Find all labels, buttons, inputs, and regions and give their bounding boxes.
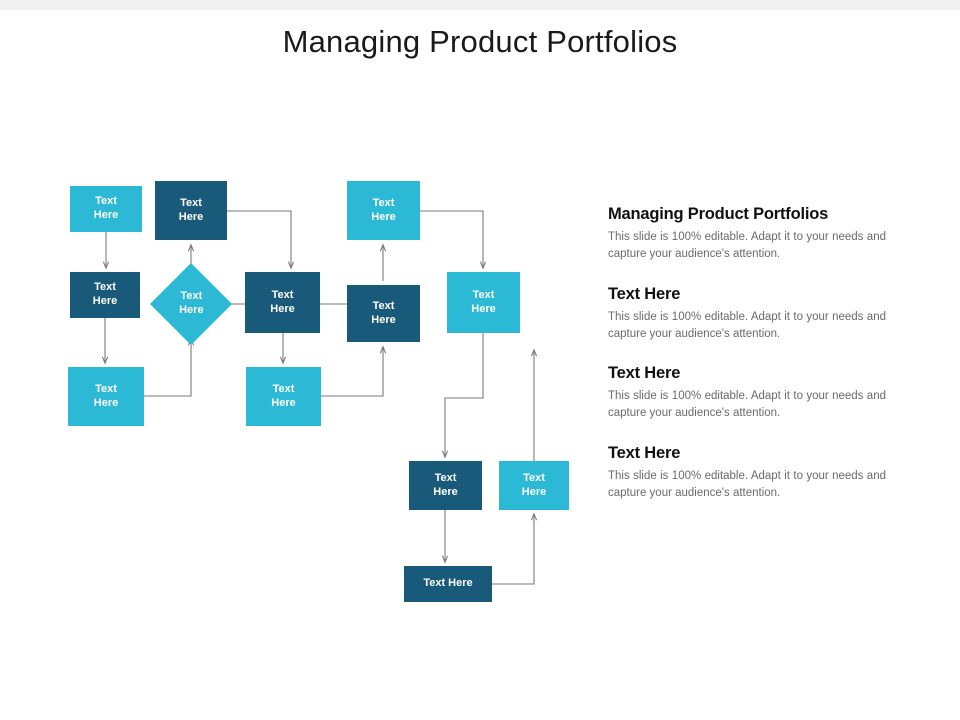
flow-node-label: TextHere [179,197,203,225]
text-section: Managing Product PortfoliosThis slide is… [608,205,886,264]
section-heading: Managing Product Portfolios [608,205,886,224]
flowchart-diagram: TextHereTextHereTextHereTextHereTextHere… [0,0,600,720]
flow-node-label: TextHere [94,195,118,223]
text-section: Text HereThis slide is 100% editable. Ad… [608,364,886,423]
flow-node-box[interactable]: TextHere [68,367,144,426]
flow-node-label: Text Here [423,577,472,591]
flow-node-label: TextHere [179,290,203,318]
section-heading: Text Here [608,444,886,463]
flow-node-label: TextHere [522,472,546,500]
flow-node-box[interactable]: Text Here [404,566,492,602]
connector-arrow [492,514,534,584]
section-heading: Text Here [608,285,886,304]
section-body: This slide is 100% editable. Adapt it to… [608,309,886,344]
connector-arrow [445,333,483,457]
flow-node-box[interactable]: TextHere [246,367,321,426]
section-body: This slide is 100% editable. Adapt it to… [608,468,886,503]
flow-node-box[interactable]: TextHere [447,272,520,333]
flow-node-box[interactable]: TextHere [70,186,142,232]
connector-arrow [227,211,291,268]
flow-node-label: TextHere [270,289,294,317]
flow-node-box[interactable]: TextHere [155,181,227,240]
text-section: Text HereThis slide is 100% editable. Ad… [608,444,886,503]
flow-node-label: TextHere [271,383,295,411]
flow-node-label: TextHere [371,300,395,328]
flow-node-label: TextHere [371,197,395,225]
section-body: This slide is 100% editable. Adapt it to… [608,388,886,423]
flow-node-box[interactable]: TextHere [409,461,482,510]
flow-node-box[interactable]: TextHere [245,272,320,333]
flow-node-label: TextHere [93,281,117,309]
connector-arrow [144,339,191,396]
flow-node-box[interactable]: TextHere [70,272,140,318]
section-heading: Text Here [608,364,886,383]
connector-arrow [420,211,483,268]
section-body: This slide is 100% editable. Adapt it to… [608,229,886,264]
flow-node-box[interactable]: TextHere [347,181,420,240]
flow-node-label: TextHere [433,472,457,500]
flow-node-box[interactable]: TextHere [499,461,569,510]
connector-arrow [321,347,383,396]
connector-layer [0,0,600,720]
flow-node-label: TextHere [471,289,495,317]
text-panel: Managing Product PortfoliosThis slide is… [608,205,886,502]
text-section: Text HereThis slide is 100% editable. Ad… [608,285,886,344]
flow-node-box[interactable]: TextHere [347,285,420,342]
flow-node-label: TextHere [94,383,118,411]
